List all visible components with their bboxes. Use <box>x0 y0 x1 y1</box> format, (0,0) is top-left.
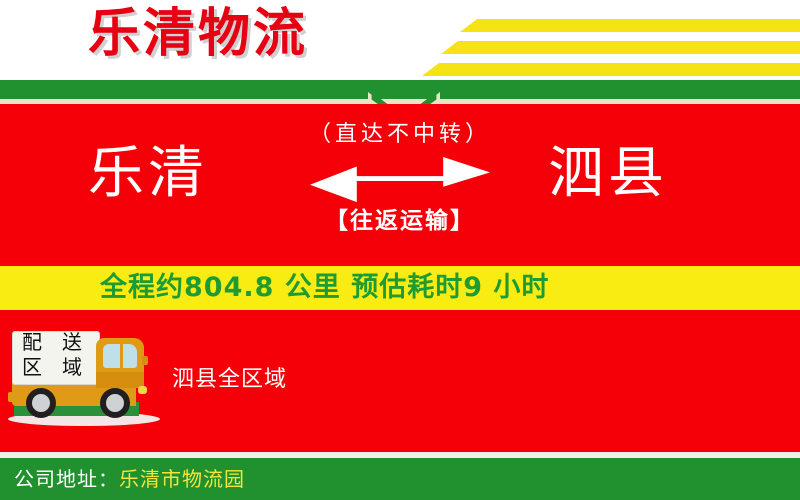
coverage-area-text: 泗县全区域 <box>172 366 287 394</box>
header-zone: 乐清物流 <box>0 0 800 80</box>
truck-cab-shade <box>96 372 144 388</box>
stripe-3 <box>439 63 800 76</box>
double-arrow-icon <box>310 156 490 204</box>
truck-rear-wheel <box>26 388 56 418</box>
truck-rear-fender <box>8 392 20 402</box>
distance-bar: 全程约804.8 公里 预估耗时9 小时 <box>0 266 800 310</box>
address-value: 乐清市物流园 <box>119 467 245 491</box>
cargo-char-4: 域 <box>62 356 82 378</box>
decorative-stripes <box>420 10 800 72</box>
truck-mirror <box>142 356 148 365</box>
route-middle-block: （直达不中转） 【往返运输】 <box>280 120 520 236</box>
destination-city: 泗县 <box>548 140 668 208</box>
address-label: 公司地址： <box>14 467 119 491</box>
truck-cargo-box-text: 配 送 区 域 <box>12 329 92 379</box>
brand-title: 乐清物流 <box>88 3 308 65</box>
cargo-char-2: 送 <box>62 331 82 353</box>
truck-headlight <box>138 386 147 394</box>
stripe-2 <box>458 41 800 54</box>
direct-service-note: （直达不中转） <box>280 120 520 150</box>
delivery-section: 配 送 区 域 泗县全区域 <box>0 310 800 452</box>
truck-front-wheel <box>100 388 130 418</box>
cargo-char-1: 配 <box>22 331 42 353</box>
footer-bar: 公司地址：乐清市物流园 <box>0 458 800 500</box>
company-address: 公司地址：乐清市物流园 <box>14 466 245 492</box>
roundtrip-note: 【往返运输】 <box>280 206 520 236</box>
route-section: 乐清 （直达不中转） 【往返运输】 泗县 <box>0 104 800 266</box>
delivery-truck-icon: 配 送 区 域 <box>8 328 158 428</box>
distance-text: 全程约804.8 公里 预估耗时9 小时 <box>100 271 549 305</box>
logistics-banner: 乐清物流 乐清 （直达不中转） 【往返运输】 泗县 全程约804.8 公里 预估… <box>0 0 800 500</box>
double-arrow-shape <box>310 156 490 204</box>
stripe-1 <box>477 19 800 32</box>
cargo-char-3: 区 <box>22 356 42 378</box>
origin-city: 乐清 <box>88 140 208 208</box>
truck-window-divider <box>120 344 123 368</box>
